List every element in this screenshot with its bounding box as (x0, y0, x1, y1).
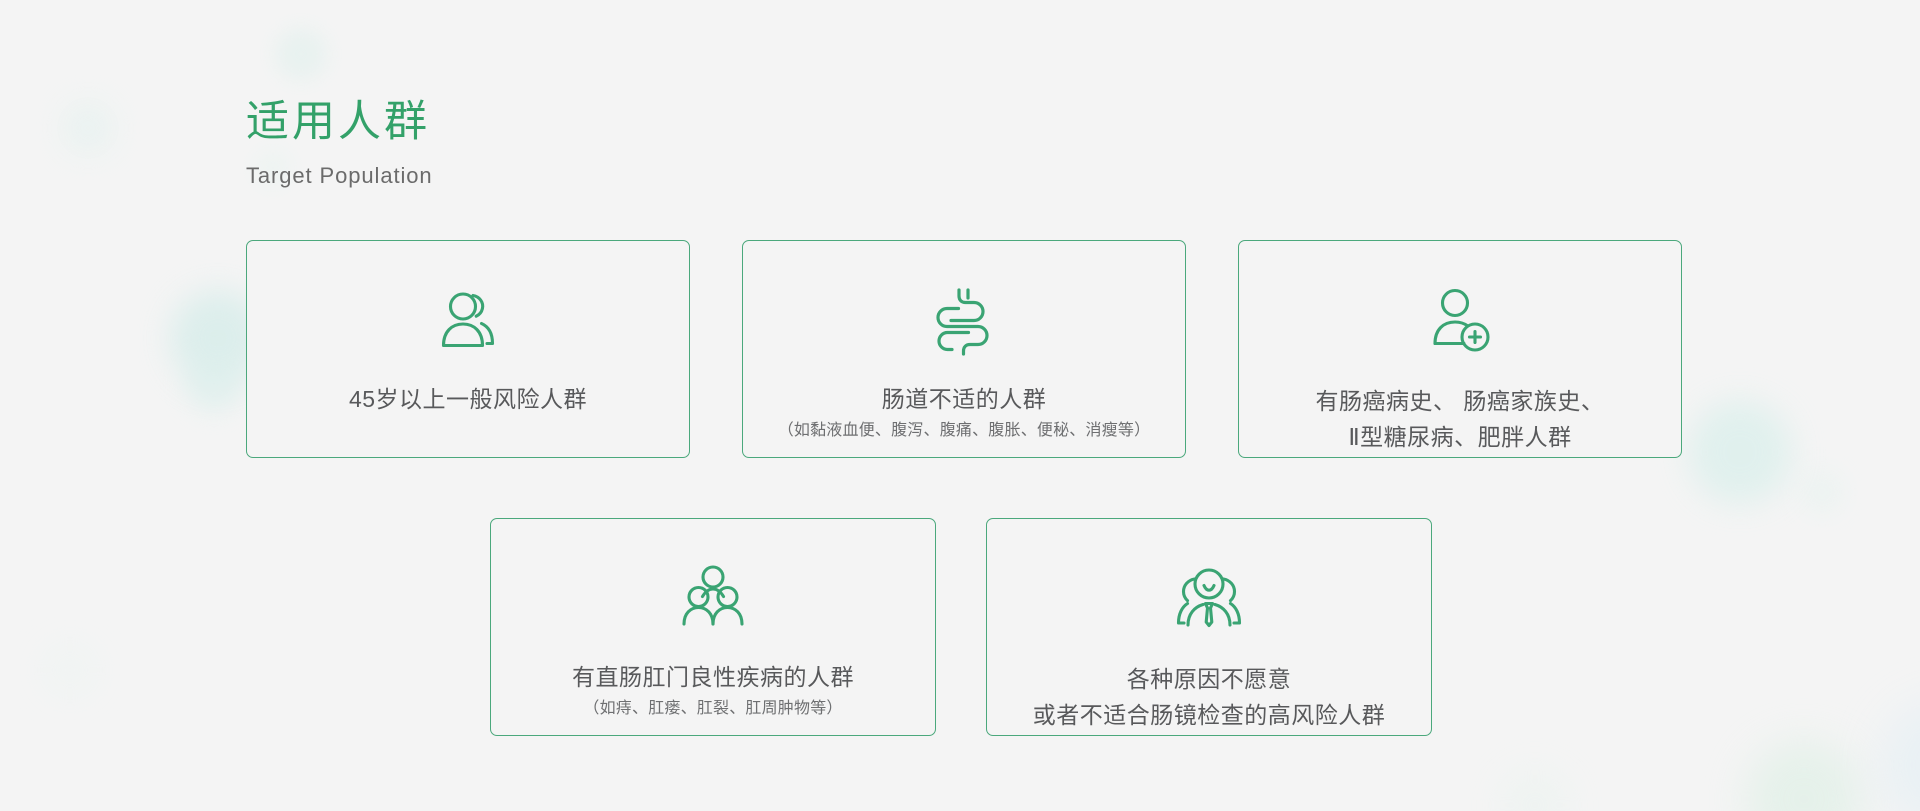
card-text-block: 各种原因不愿意 或者不适合肠镜检查的高风险人群 (987, 661, 1431, 733)
card-title-line-1: 45岁以上一般风险人群 (261, 381, 675, 417)
three-people-group-icon (677, 553, 749, 645)
population-card-cancer-history[interactable]: 有肠癌病史、 肠癌家族史、 Ⅱ型糖尿病、肥胖人群 (1238, 240, 1682, 458)
card-text-block: 肠道不适的人群 （如黏液血便、腹泻、腹痛、腹胀、便秘、消瘦等） (743, 381, 1185, 444)
person-medical-cross-icon (1424, 275, 1496, 367)
card-subtitle: （如黏液血便、腹泻、腹痛、腹胀、便秘、消瘦等） (757, 418, 1171, 444)
population-card-bowel-discomfort[interactable]: 肠道不适的人群 （如黏液血便、腹泻、腹痛、腹胀、便秘、消瘦等） (742, 240, 1186, 458)
card-title-line-1: 有肠癌病史、 肠癌家族史、 (1253, 383, 1667, 419)
card-title-line-1: 肠道不适的人群 (757, 381, 1171, 417)
intestine-icon (930, 275, 998, 367)
card-text-block: 有直肠肛门良性疾病的人群 （如痔、肛瘘、肛裂、肛周肿物等） (491, 659, 935, 722)
card-text-block: 45岁以上一般风险人群 (247, 381, 689, 417)
section-heading: 适用人群 Target Population (246, 96, 433, 189)
card-title-line-2: 或者不适合肠镜检查的高风险人群 (1001, 697, 1417, 733)
card-title-line-1: 各种原因不愿意 (1001, 661, 1417, 697)
page-subtitle: Target Population (246, 163, 433, 189)
target-population-section: 适用人群 Target Population 45岁以上一般风险人群 (0, 0, 1920, 811)
card-subtitle: （如痔、肛瘘、肛裂、肛周肿物等） (505, 696, 921, 722)
population-card-45-plus[interactable]: 45岁以上一般风险人群 (246, 240, 690, 458)
page-title: 适用人群 (246, 96, 433, 148)
card-title-line-1: 有直肠肛门良性疾病的人群 (505, 659, 921, 695)
crowd-with-tie-icon (1171, 553, 1247, 645)
card-text-block: 有肠癌病史、 肠癌家族史、 Ⅱ型糖尿病、肥胖人群 (1239, 383, 1681, 455)
two-people-icon (431, 275, 505, 367)
card-title-line-2: Ⅱ型糖尿病、肥胖人群 (1253, 419, 1667, 455)
population-card-anorectal-disease[interactable]: 有直肠肛门良性疾病的人群 （如痔、肛瘘、肛裂、肛周肿物等） (490, 518, 936, 736)
population-card-colonoscopy-unwilling[interactable]: 各种原因不愿意 或者不适合肠镜检查的高风险人群 (986, 518, 1432, 736)
